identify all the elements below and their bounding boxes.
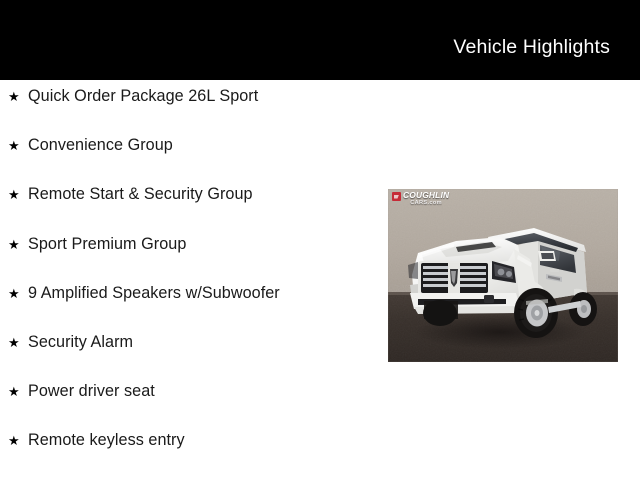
page-header: Vehicle Highlights xyxy=(0,0,640,80)
list-item: ★ 9 Amplified Speakers w/Subwoofer xyxy=(0,285,380,334)
star-bullet-icon: ★ xyxy=(8,287,28,300)
list-item-label: Sport Premium Group xyxy=(28,236,380,252)
list-item-label: Quick Order Package 26L Sport xyxy=(28,88,380,104)
list-item-label: Security Alarm xyxy=(28,334,380,350)
list-item-label: Remote Start & Security Group xyxy=(28,186,380,202)
star-bullet-icon: ★ xyxy=(8,238,28,251)
vehicle-photo: COUGHLIN CARS.com xyxy=(388,189,618,362)
list-item: ★ Sport Premium Group xyxy=(0,236,380,285)
list-item: ★ Remote keyless entry xyxy=(0,432,380,480)
list-item: ★ Quick Order Package 26L Sport xyxy=(0,88,380,137)
list-item-label: Convenience Group xyxy=(28,137,380,153)
star-bullet-icon: ★ xyxy=(8,139,28,152)
list-item-label: 9 Amplified Speakers w/Subwoofer xyxy=(28,285,380,301)
star-bullet-icon: ★ xyxy=(8,385,28,398)
list-item-label: Power driver seat xyxy=(28,383,380,399)
star-bullet-icon: ★ xyxy=(8,336,28,349)
list-item: ★ Power driver seat xyxy=(0,383,380,432)
vehicle-highlights-list: ★ Quick Order Package 26L Sport ★ Conven… xyxy=(0,88,380,480)
star-bullet-icon: ★ xyxy=(8,188,28,201)
star-bullet-icon: ★ xyxy=(8,434,28,447)
page-title: Vehicle Highlights xyxy=(453,22,640,59)
vehicle-photo-image xyxy=(388,189,618,362)
vehicle-highlights-page: Vehicle Highlights ★ Quick Order Package… xyxy=(0,0,640,480)
list-item-label: Remote keyless entry xyxy=(28,432,380,448)
list-item: ★ Remote Start & Security Group xyxy=(0,186,380,235)
list-item: ★ Convenience Group xyxy=(0,137,380,186)
list-item: ★ Security Alarm xyxy=(0,334,380,383)
star-bullet-icon: ★ xyxy=(8,90,28,103)
